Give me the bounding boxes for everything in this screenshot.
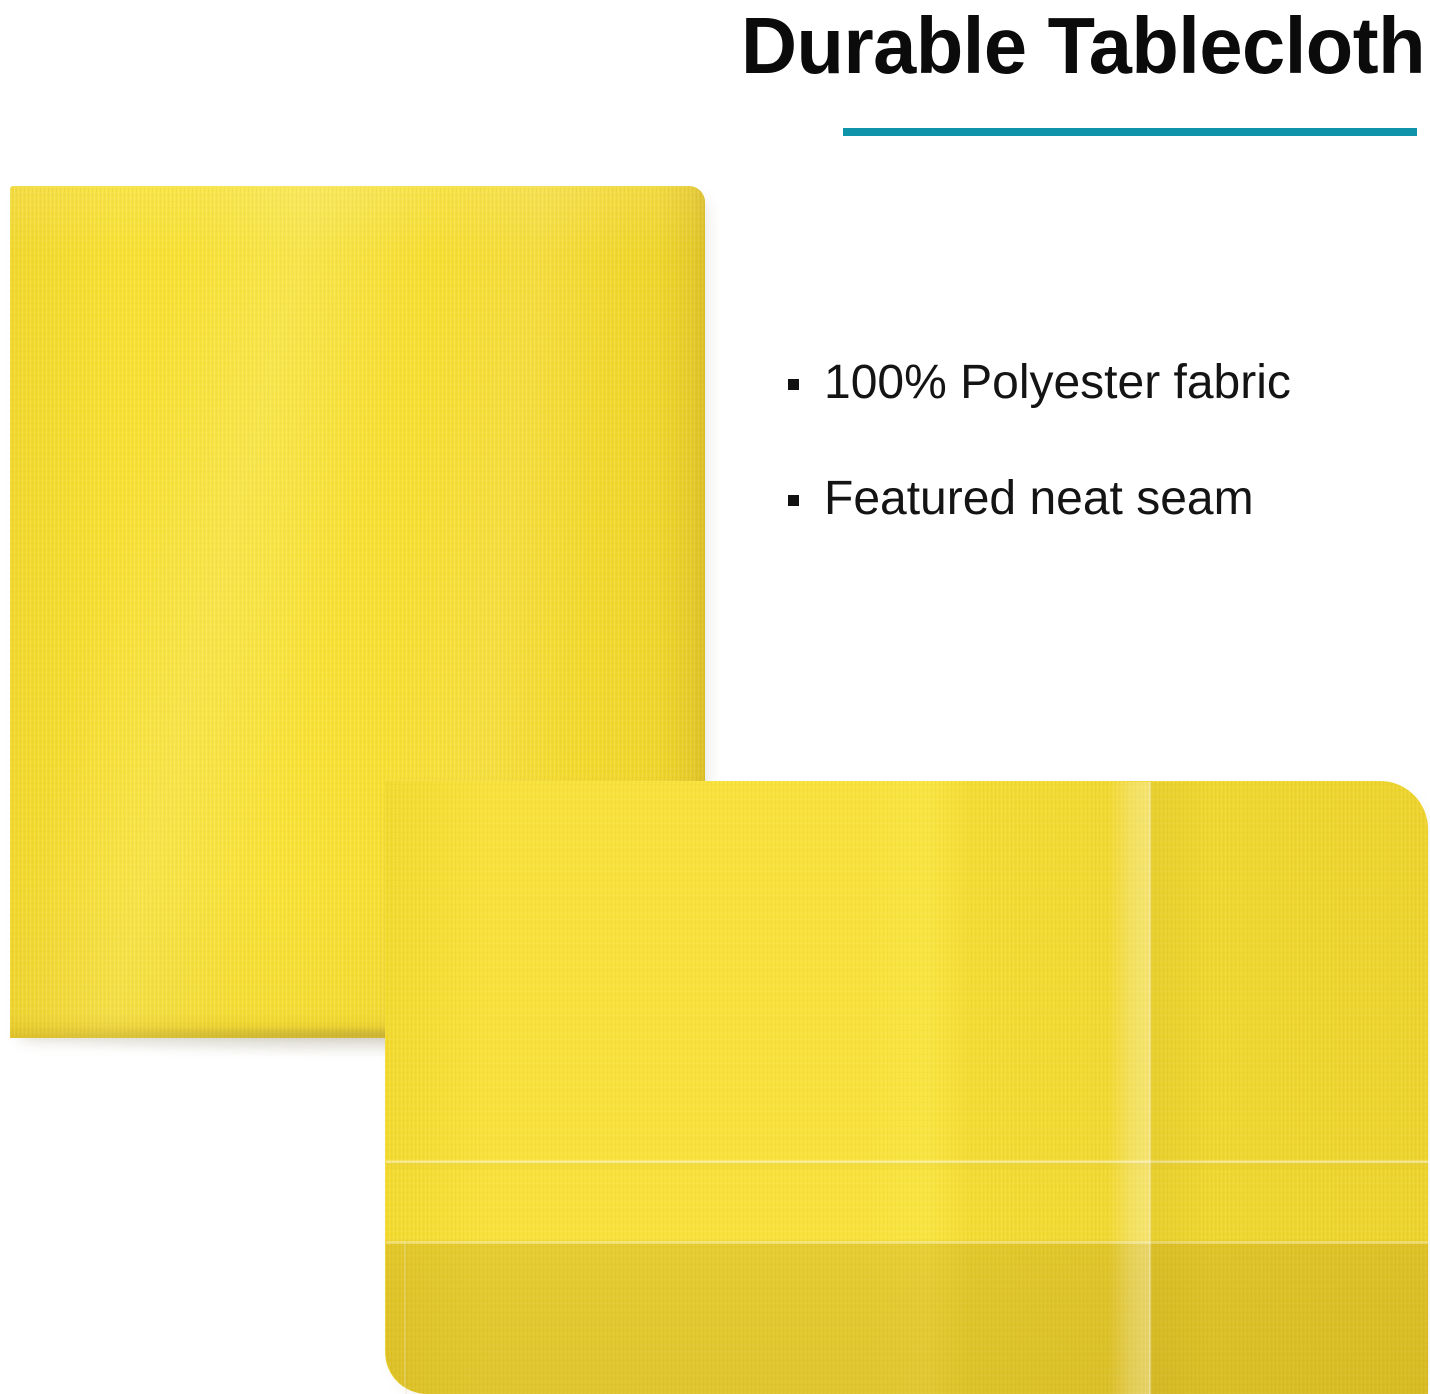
page-title: Durable Tablecloth (678, 0, 1425, 94)
list-item: Featured neat seam (788, 468, 1408, 530)
hem-fold-band (386, 1243, 1428, 1394)
feature-label: Featured neat seam (824, 470, 1254, 528)
title-underline-rule (843, 128, 1417, 136)
hem-fold-band-edge (386, 1241, 1428, 1244)
feature-label: 100% Polyester fabric (824, 354, 1291, 412)
square-bullet-icon (788, 495, 799, 506)
product-infographic-page: Durable Tablecloth 100% Polyester fabric… (0, 0, 1430, 1394)
vertical-fold-shadow (1152, 782, 1212, 1394)
square-bullet-icon (788, 379, 799, 390)
feature-list: 100% Polyester fabric Featured neat seam (788, 352, 1408, 584)
list-item: 100% Polyester fabric (788, 352, 1408, 414)
vertical-fold-highlight (1108, 782, 1152, 1394)
hem-stitch-shadow (386, 1164, 1428, 1172)
corner-seam-line (404, 1241, 407, 1394)
